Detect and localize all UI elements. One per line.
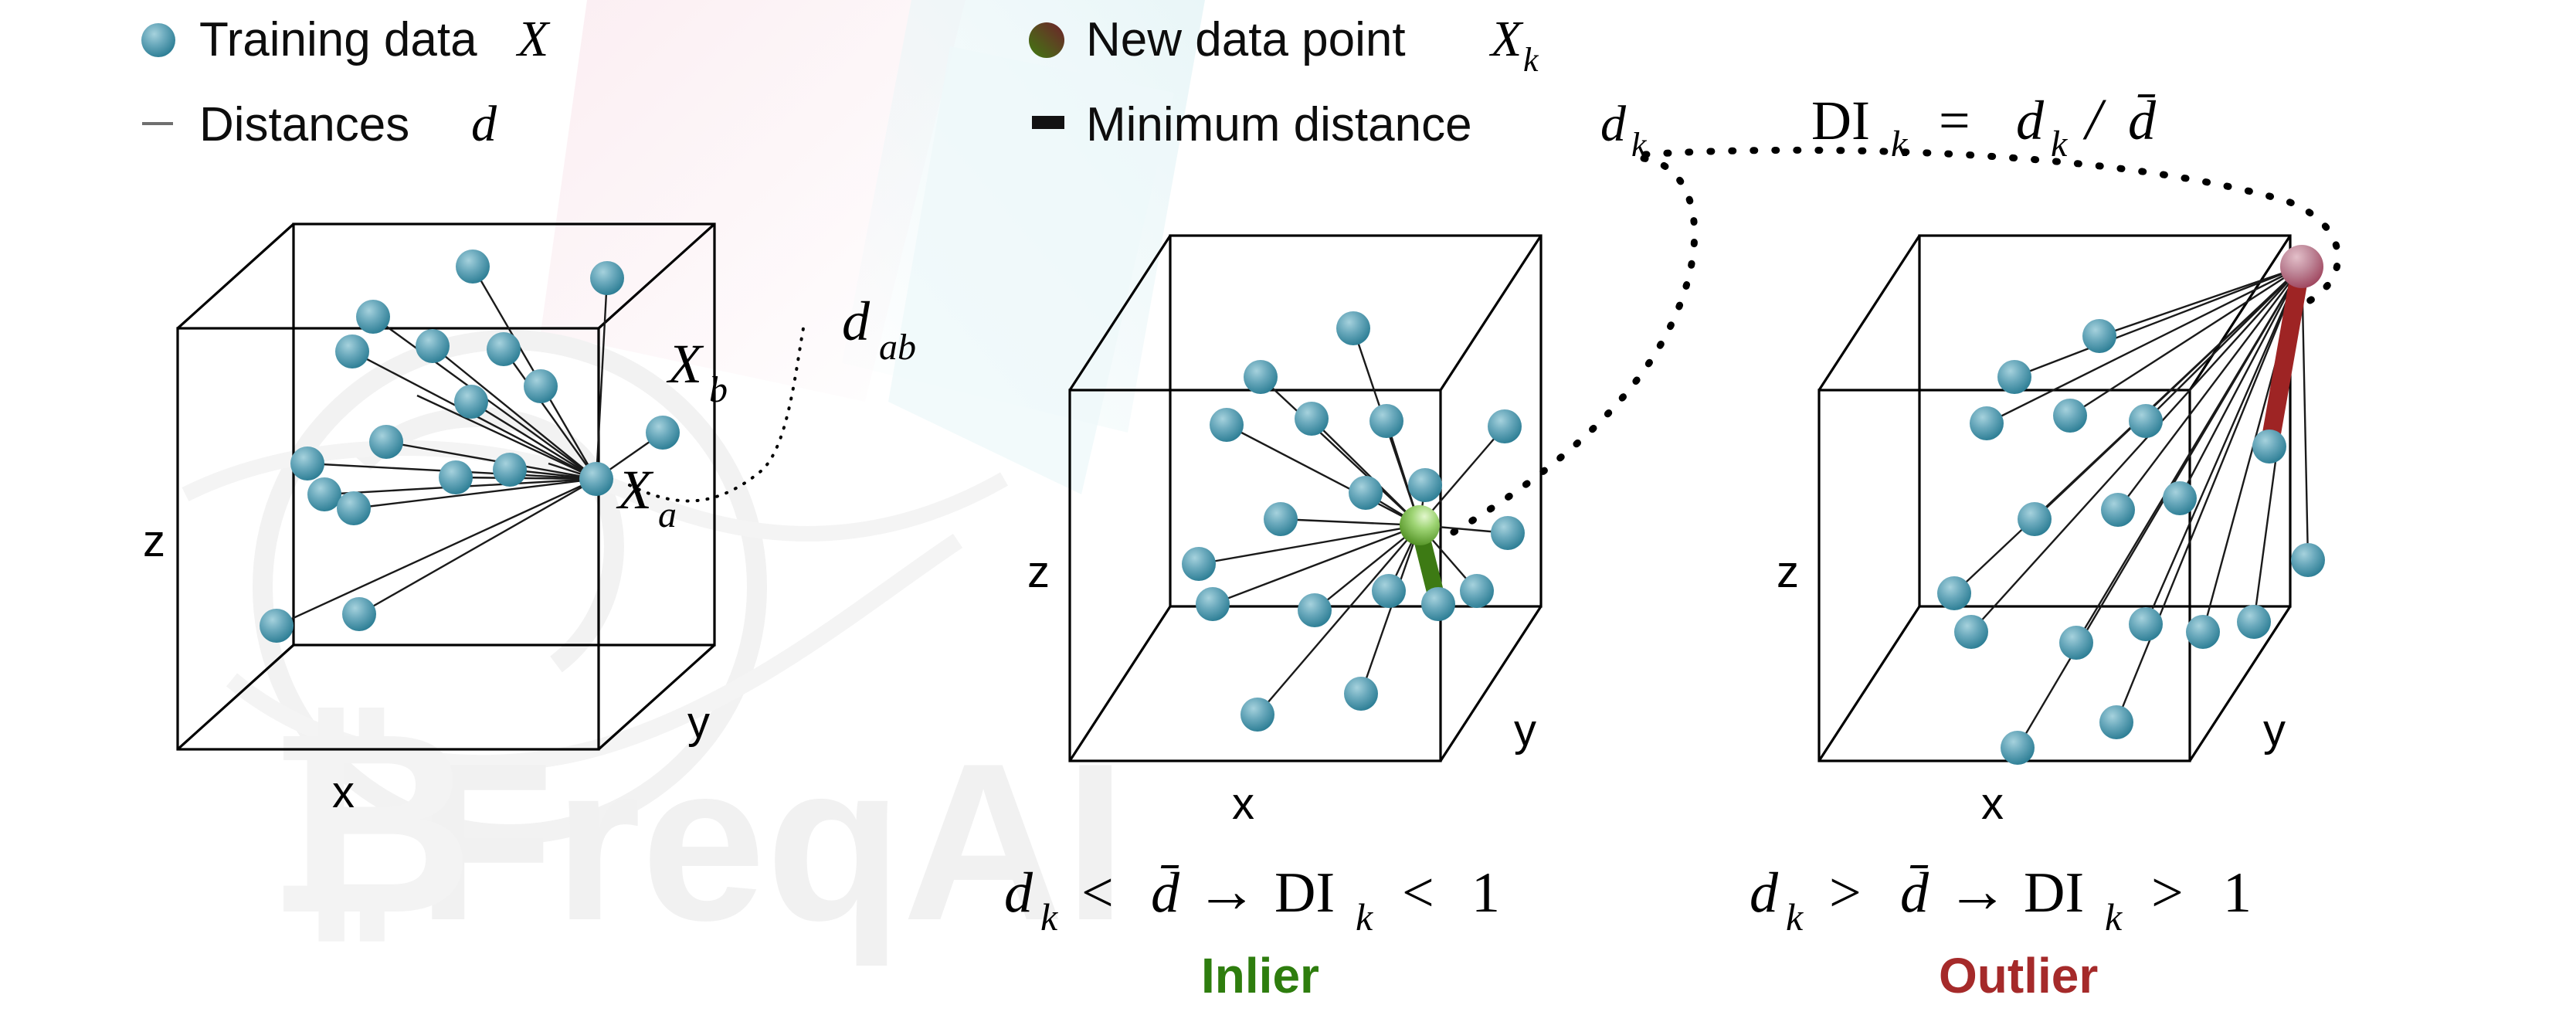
- legend-label-newpoint: New data point: [1086, 13, 1406, 66]
- legend-math-mindist: d: [1600, 96, 1627, 152]
- di-formula-lhs: DI: [1811, 90, 1870, 151]
- label-xb-sym: X: [666, 333, 704, 395]
- panel-training-data-cube: X a X b d ab z x y: [143, 224, 916, 817]
- legend-item-new-data-point[interactable]: New data point X k: [1029, 11, 1539, 79]
- legend-item-minimum-distance[interactable]: Minimum distance d k: [1032, 96, 1648, 164]
- data-point: [2018, 502, 2052, 536]
- data-point: [487, 332, 521, 366]
- caption-outlier-val: 1: [2223, 861, 2252, 925]
- caption-inlier-val: 1: [1471, 861, 1500, 925]
- cube-wireframe-2: [1070, 236, 1541, 761]
- data-point: [2101, 493, 2135, 527]
- new-data-point-inlier: [1400, 505, 1440, 545]
- di-formula-denominator: d̄: [2128, 90, 2157, 151]
- label-dab-sym: d: [842, 290, 871, 352]
- leader-mindist-to-outlier: [1645, 150, 2338, 305]
- data-point: [1295, 402, 1329, 436]
- leader-mindist-to-inlier: [1452, 158, 1695, 533]
- data-point: [1937, 576, 1971, 610]
- data-point: [2129, 404, 2163, 438]
- caption-inlier-lhs: d: [1004, 861, 1033, 925]
- verdict-inlier: Inlier: [1201, 948, 1319, 1003]
- data-point: [2163, 481, 2197, 515]
- legend-math-newpoint-sub: k: [1523, 41, 1539, 79]
- reference-point-xa: [579, 462, 613, 496]
- label-xb: X b: [666, 333, 728, 410]
- legend-label-training: Training data: [199, 13, 477, 66]
- data-point: [590, 261, 624, 295]
- legend-math-training: X: [515, 11, 551, 67]
- distance-lines-2: [1199, 328, 1508, 715]
- label-dab-sub: ab: [879, 327, 916, 368]
- data-point: [646, 416, 680, 450]
- data-point: [454, 385, 488, 419]
- caption-outlier-rel: >: [1829, 861, 1862, 925]
- data-point: [337, 491, 371, 525]
- data-point: [342, 597, 376, 631]
- caption-outlier-mid: d̄: [1900, 861, 1929, 925]
- training-spheres-1: [260, 250, 680, 643]
- di-formula-lhs-sub: k: [1891, 124, 1909, 165]
- data-point: [260, 609, 294, 643]
- data-point: [524, 369, 558, 403]
- data-point: [1970, 406, 2004, 440]
- data-point: [1244, 360, 1278, 394]
- data-point: [1369, 404, 1403, 438]
- data-point: [1954, 615, 1988, 649]
- caption-outlier-lhs: d: [1750, 861, 1779, 925]
- di-formula-slash: /: [2082, 87, 2106, 152]
- data-point: [1344, 677, 1378, 711]
- data-point: [2099, 705, 2133, 739]
- legend-label-mindist: Minimum distance: [1086, 98, 1472, 151]
- distance-lines-1: [277, 267, 663, 626]
- thick-dash-marker-icon: [1032, 116, 1064, 129]
- data-point: [1298, 593, 1332, 627]
- caption-inlier-lhs-sub: k: [1040, 895, 1058, 939]
- data-point: [456, 250, 490, 284]
- data-point: [416, 329, 450, 363]
- data-point: [2186, 615, 2220, 649]
- data-point: [1460, 574, 1494, 608]
- caption-outlier: d k > d̄ → DI k > 1: [1750, 857, 2252, 939]
- data-point: [1210, 408, 1244, 442]
- caption-outlier-rel2: >: [2151, 861, 2184, 925]
- data-point: [2059, 626, 2093, 660]
- training-spheres-3: [1937, 319, 2325, 765]
- axis-label-y-1: y: [687, 698, 710, 748]
- caption-inlier: d k < d̄ → DI k < 1: [1004, 857, 1500, 939]
- axis-label-z-3: z: [1777, 547, 1799, 597]
- caption-outlier-arrow: →: [1946, 857, 2008, 925]
- data-point: [356, 300, 390, 334]
- caption-outlier-rhs: DI: [2024, 861, 2084, 925]
- di-formula-equals: =: [1939, 90, 1970, 151]
- data-point: [2001, 731, 2035, 765]
- green-maroon-dot-marker-icon: [1029, 22, 1064, 58]
- legend-math-distances: d: [471, 96, 497, 152]
- diagram-root: FreqAI ₿: [0, 0, 2576, 1022]
- label-xa: X a: [616, 459, 677, 535]
- di-formula-numerator: d: [2016, 90, 2045, 151]
- data-point: [1240, 698, 1274, 732]
- axis-label-x-2: x: [1232, 779, 1254, 829]
- legend-item-distances[interactable]: Distances d: [142, 96, 497, 152]
- data-point: [2237, 605, 2271, 639]
- panel-outlier-cube: z x y d k > d̄ → DI k > 1 Outlier: [1750, 236, 2325, 1003]
- axis-label-x-1: x: [332, 767, 355, 817]
- data-point: [2082, 319, 2116, 353]
- data-point: [1196, 587, 1230, 621]
- data-point: [290, 446, 324, 480]
- data-point: [493, 453, 527, 487]
- data-point: [1264, 502, 1298, 536]
- data-point: [439, 460, 473, 494]
- caption-inlier-mid: d̄: [1151, 861, 1180, 925]
- nearest-point-outlier: [2252, 430, 2286, 463]
- axis-label-z-1: z: [143, 516, 165, 566]
- data-point: [1349, 476, 1383, 510]
- axis-label-z-2: z: [1027, 547, 1050, 597]
- data-point: [1336, 311, 1370, 345]
- caption-inlier-rel2: <: [1402, 861, 1434, 925]
- data-point: [2053, 399, 2087, 433]
- data-point: [1997, 360, 2031, 394]
- panel-inlier-cube: z x y d k < d̄ → DI k < 1 Inlier: [1004, 236, 1541, 1003]
- di-formula-numerator-sub: k: [2051, 124, 2069, 165]
- legend: Training data X Distances d New data poi…: [141, 11, 1648, 164]
- caption-outlier-rhs-sub: k: [2105, 895, 2123, 939]
- axis-label-y-2: y: [1514, 705, 1536, 755]
- data-point: [1491, 516, 1525, 550]
- data-point: [1408, 468, 1442, 502]
- label-xa-sym: X: [616, 459, 654, 521]
- caption-inlier-rhs-sub: k: [1356, 895, 1373, 939]
- label-dab: d ab: [842, 290, 916, 368]
- label-xb-sub: b: [709, 369, 728, 410]
- data-point: [2129, 607, 2163, 641]
- label-xa-sub: a: [658, 494, 677, 535]
- data-point: [369, 425, 403, 459]
- data-point: [1372, 574, 1406, 608]
- caption-inlier-arrow: →: [1196, 857, 1257, 925]
- diagram-layer: Training data X Distances d New data poi…: [0, 0, 2576, 1022]
- verdict-outlier: Outlier: [1939, 948, 2098, 1003]
- data-point: [1182, 547, 1216, 581]
- leader-dab: [630, 328, 803, 501]
- caption-outlier-lhs-sub: k: [1786, 895, 1804, 939]
- data-point: [1488, 409, 1522, 443]
- legend-math-newpoint: X: [1488, 11, 1524, 67]
- data-point: [2291, 543, 2325, 577]
- data-point: [307, 477, 341, 511]
- axis-label-y-3: y: [2263, 705, 2286, 755]
- caption-inlier-rhs: DI: [1274, 861, 1335, 925]
- data-point: [335, 334, 369, 368]
- caption-inlier-rel: <: [1081, 861, 1114, 925]
- legend-label-distances: Distances: [199, 98, 409, 151]
- teal-sphere-marker-icon: [141, 23, 175, 57]
- new-data-point-outlier: [2280, 245, 2323, 288]
- axis-label-x-3: x: [1981, 779, 2004, 829]
- legend-item-training-data[interactable]: Training data X: [141, 11, 551, 67]
- nearest-point-inlier: [1421, 587, 1455, 621]
